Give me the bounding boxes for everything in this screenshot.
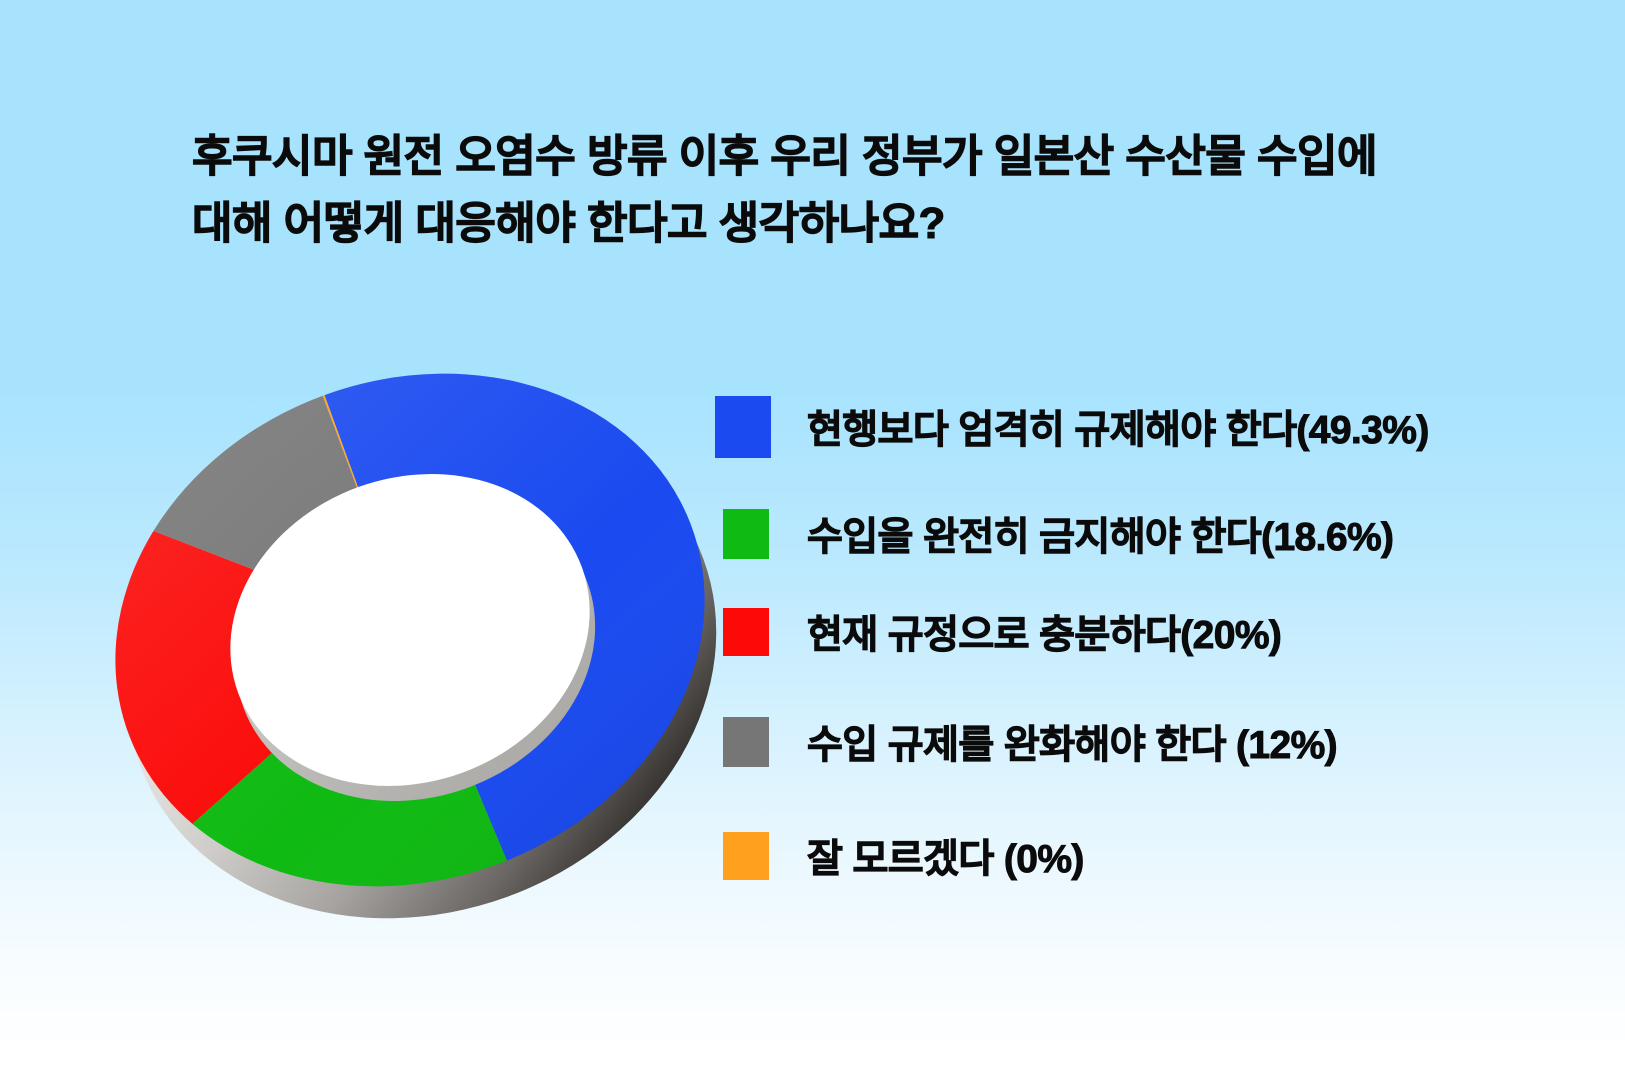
donut-top-face xyxy=(43,292,778,967)
legend-label-2: 현재 규정으로 충분하다(20%) xyxy=(807,604,1281,660)
title-line-1: 후쿠시마 원전 오염수 방류 이후 우리 정부가 일본산 수산물 수입에 xyxy=(192,124,1492,191)
legend-swatch-green xyxy=(723,509,769,559)
legend-swatch-blue xyxy=(715,396,771,458)
poll-infographic: 후쿠시마 원전 오염수 방류 이후 우리 정부가 일본산 수산물 수입에 대해 … xyxy=(0,0,1625,1084)
legend-swatch-gray xyxy=(723,717,769,767)
legend-label-4: 잘 모르겠다 (0%) xyxy=(807,828,1084,884)
legend-swatch-red xyxy=(723,608,769,656)
legend-label-1: 수입을 완전히 금지해야 한다(18.6%) xyxy=(807,506,1393,562)
legend-item-4[interactable]: 잘 모르겠다 (0%) xyxy=(723,828,1084,884)
legend-item-0[interactable]: 현행보다 엄격히 규제해야 한다(49.3%) xyxy=(715,396,1429,458)
legend-item-2[interactable]: 현재 규정으로 충분하다(20%) xyxy=(723,604,1281,660)
legend-label-0: 현행보다 엄격히 규제해야 한다(49.3%) xyxy=(807,399,1429,455)
legend-swatch-orange xyxy=(723,832,769,880)
page-title: 후쿠시마 원전 오염수 방류 이후 우리 정부가 일본산 수산물 수입에 대해 … xyxy=(192,124,1492,258)
title-line-2: 대해 어떻게 대응해야 한다고 생각하나요? xyxy=(192,191,1492,258)
donut-chart xyxy=(70,300,750,960)
legend-label-3: 수입 규제를 완화해야 한다 (12%) xyxy=(807,714,1337,770)
legend-item-1[interactable]: 수입을 완전히 금지해야 한다(18.6%) xyxy=(723,506,1393,562)
legend-item-3[interactable]: 수입 규제를 완화해야 한다 (12%) xyxy=(723,714,1337,770)
